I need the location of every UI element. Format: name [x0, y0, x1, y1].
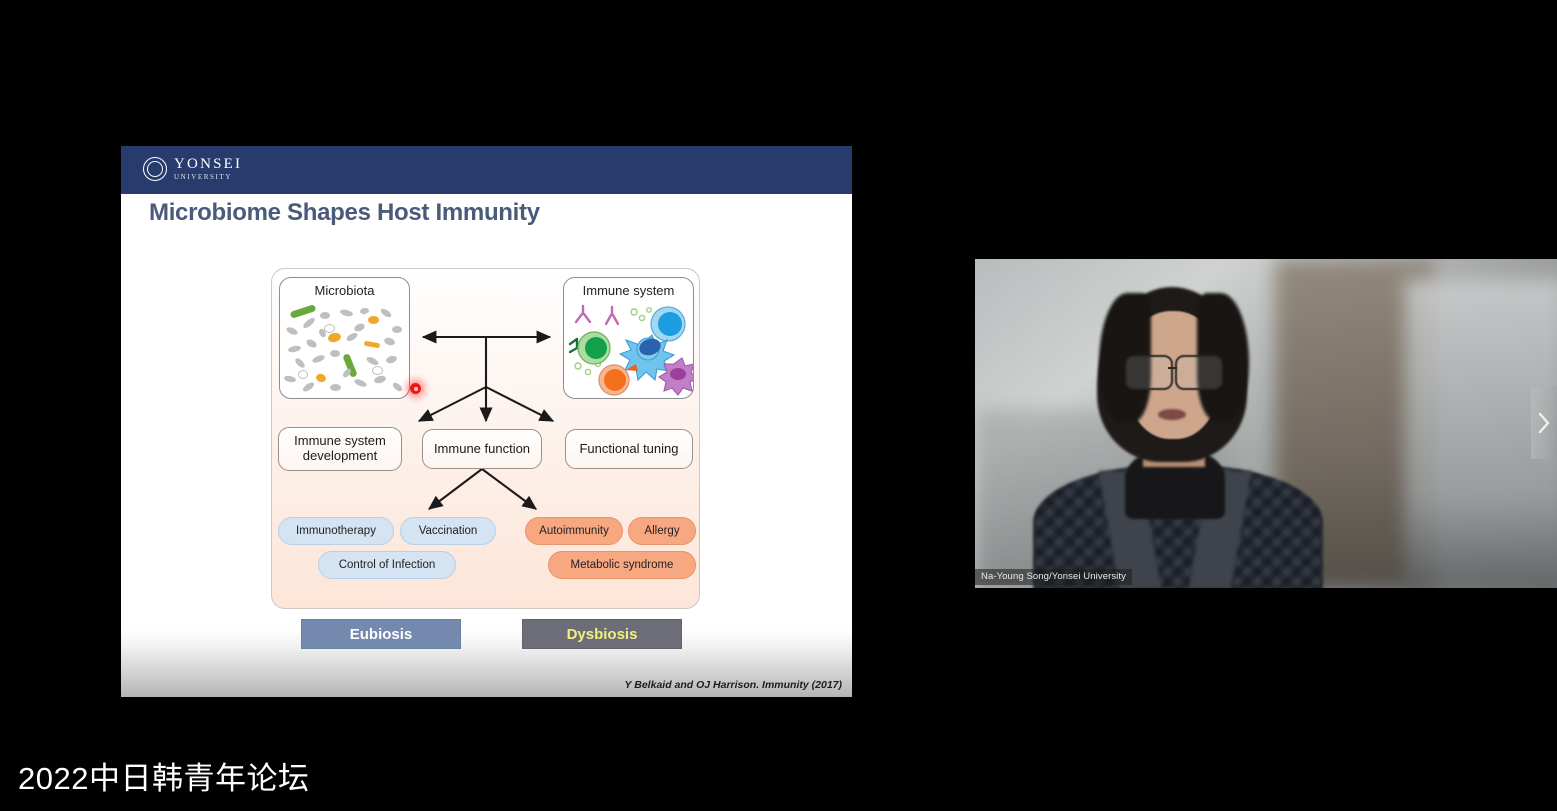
slide-header-band: YONSEI UNIVERSITY	[121, 146, 852, 194]
panel-microbiota: Microbiota	[279, 277, 410, 399]
pill-autoimmunity: Autoimmunity	[525, 517, 623, 545]
next-arrow-button[interactable]	[1531, 387, 1557, 459]
microbiota-illustration	[280, 300, 409, 398]
immunity-diagram: Microbiota	[271, 268, 700, 609]
participant-mouth	[1158, 409, 1186, 420]
chevron-right-icon	[1537, 412, 1551, 434]
participant-eyeglass-right	[1175, 355, 1223, 390]
panel-immune-system: Immune system	[563, 277, 694, 399]
yonsei-wordmark: YONSEI UNIVERSITY	[174, 157, 242, 181]
slide-title: Microbiome Shapes Host Immunity	[149, 199, 789, 227]
immune-system-illustration	[564, 300, 693, 398]
yonsei-logo: YONSEI UNIVERSITY	[143, 157, 242, 181]
pill-metabolic-syndrome: Metabolic syndrome	[548, 551, 696, 579]
participant-name-label: Na-Young Song/Yonsei University	[975, 569, 1132, 585]
pill-immunotherapy: Immunotherapy	[278, 517, 394, 545]
pill-vaccination: Vaccination	[400, 517, 496, 545]
box-functional-tuning: Functional tuning	[565, 429, 693, 469]
panel-immune-system-label: Immune system	[564, 283, 693, 298]
slide-citation: Y Belkaid and OJ Harrison. Immunity (201…	[625, 679, 842, 691]
status-bar-dysbiosis: Dysbiosis	[522, 619, 682, 649]
laser-pointer-dot	[410, 383, 421, 394]
presentation-stage: YONSEI UNIVERSITY Microbiome Shapes Host…	[0, 0, 1557, 811]
panel-microbiota-label: Microbiota	[280, 283, 409, 298]
broadcast-caption: 2022中日韩青年论坛	[18, 753, 309, 798]
yonsei-seal-icon	[143, 157, 167, 181]
participant-video-tile[interactable]: Na-Young Song/Yonsei University	[975, 259, 1557, 588]
pill-control-of-infection: Control of Infection	[318, 551, 456, 579]
box-immune-system-development: Immune system development	[278, 427, 402, 471]
pill-allergy: Allergy	[628, 517, 696, 545]
participant-eyeglass-left	[1125, 355, 1173, 390]
brand-subtitle: UNIVERSITY	[174, 174, 242, 181]
box-immune-function: Immune function	[422, 429, 542, 469]
brand-name: YONSEI	[174, 157, 242, 172]
participant-eyeglass-bridge	[1168, 367, 1177, 369]
status-bar-eubiosis: Eubiosis	[301, 619, 461, 649]
slide-canvas: YONSEI UNIVERSITY Microbiome Shapes Host…	[121, 146, 852, 697]
